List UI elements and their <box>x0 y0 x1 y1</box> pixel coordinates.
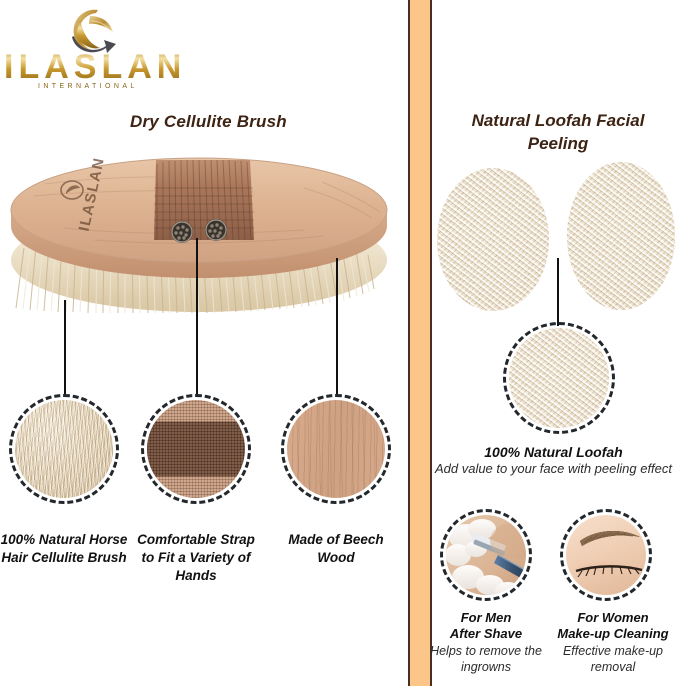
closed-eye-illustration <box>566 515 646 595</box>
loofah-caption-block: 100% Natural Loofah Add value to your fa… <box>428 444 679 478</box>
use-men-subtext: Helps to remove the ingrowns <box>424 644 548 675</box>
strap-stud-right <box>205 219 227 241</box>
use-women-heading-2: Make-up Cleaning <box>549 626 677 642</box>
brush-strap <box>154 160 254 240</box>
loofah-pad-right <box>567 162 675 310</box>
bristle-texture <box>15 400 113 498</box>
panel-divider <box>408 0 432 686</box>
loofah-texture <box>509 328 609 428</box>
strap-stud-left <box>171 221 193 243</box>
razor-shaving-illustration <box>446 515 526 595</box>
use-men-heading-2: After Shave <box>424 626 548 642</box>
callout-line-wood <box>336 258 338 396</box>
brand-logo: ILASLAN INTERNATIONAL <box>2 2 198 90</box>
use-photo-women-eye <box>560 509 652 601</box>
logo-emblem-icon <box>72 10 116 53</box>
use-women-subtext: Effective make-up removal <box>549 644 677 675</box>
callout-line-bristles <box>64 300 66 396</box>
feature-caption-bristles: 100% Natural Horse Hair Cellulite Brush <box>0 531 134 567</box>
loofah-pad-left <box>437 168 549 311</box>
loofah-subtext: Add value to your face with peeling effe… <box>428 461 679 478</box>
wood-texture <box>287 400 385 498</box>
loofah-heading: 100% Natural Loofah <box>428 444 679 460</box>
logo-tagline: INTERNATIONAL <box>38 83 138 90</box>
callout-line-loofah <box>557 258 559 326</box>
use-women-heading-1: For Women <box>549 610 677 626</box>
use-men-heading-1: For Men <box>424 610 548 626</box>
detail-circle-loofah <box>503 322 615 434</box>
feature-caption-strap: Comfortable Strap to Fit a Variety of Ha… <box>132 531 260 584</box>
use-caption-women: For Women Make-up Cleaning Effective mak… <box>549 610 677 675</box>
right-panel-title: Natural Loofah Facial Peeling <box>443 110 673 156</box>
left-panel-title: Dry Cellulite Brush <box>130 112 380 132</box>
detail-circle-bristles <box>9 394 119 504</box>
detail-circle-strap <box>141 394 251 504</box>
feature-caption-wood: Made of Beech Wood <box>272 531 400 567</box>
callout-line-strap <box>196 238 198 396</box>
detail-circle-wood <box>281 394 391 504</box>
use-caption-men: For Men After Shave Helps to remove the … <box>424 610 548 675</box>
use-photo-men-shaving <box>440 509 532 601</box>
strap-texture <box>147 400 245 498</box>
logo-wordmark: ILASLAN <box>4 48 186 86</box>
infographic-page: ILASLAN INTERNATIONAL Dry Cellulite Brus… <box>0 0 679 686</box>
